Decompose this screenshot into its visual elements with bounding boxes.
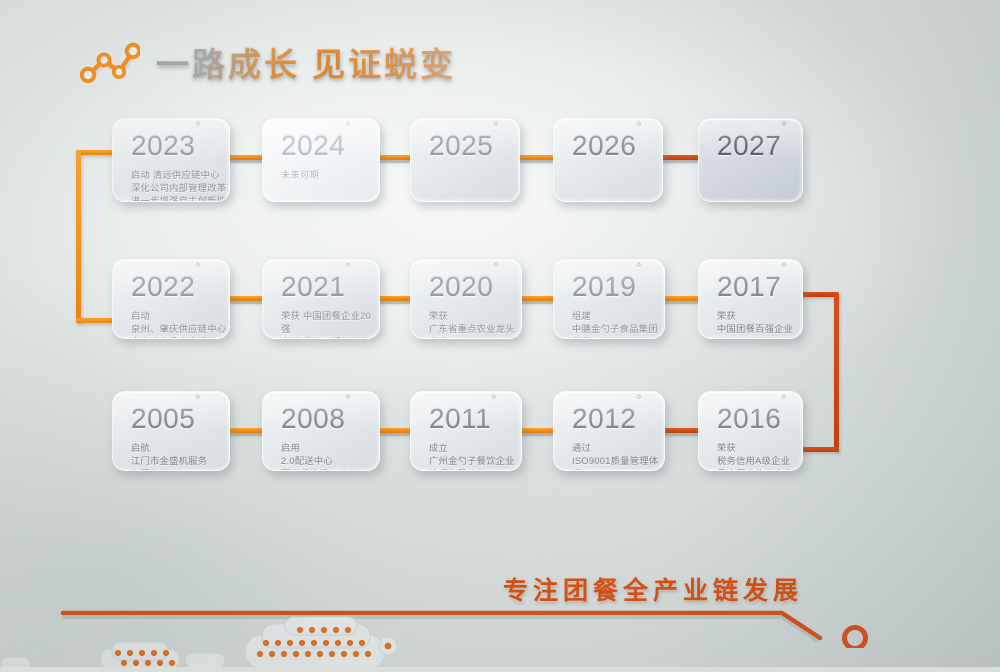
card-line: 金食康食品安全系统 xyxy=(131,336,229,339)
card-line: 江门市金盛机服务 xyxy=(131,455,229,468)
timeline-card-2024[interactable]: 2024° 未来可期 xyxy=(262,118,380,202)
card-line: 荣获 xyxy=(717,310,802,323)
card-lines: 启用 2.0配送中心 配送系统投入使用 xyxy=(281,442,379,471)
card-line: 配送系统投入使用 xyxy=(281,468,379,471)
card-year: 2016° xyxy=(717,405,802,433)
card-line: 2.0配送中心 xyxy=(281,455,379,468)
header: 一路成长 见证蜕变 xyxy=(78,38,456,86)
card-line: 启动 佛山、福州供应链中心 xyxy=(281,336,379,339)
card-lines: 启动 泉州、肇庆供应链中心 金食康食品安全系统 全面上线 xyxy=(131,310,229,339)
card-lines: 启动 清远供应链中心 深化公司内部管理改革 进一步增强自主创新能力 xyxy=(131,169,229,202)
card-line: 广东省重点农业龙头企业 xyxy=(429,323,521,339)
degree-symbol: ° xyxy=(195,260,201,275)
connector-2008-2011 xyxy=(375,428,415,433)
card-line: 启动 xyxy=(131,310,229,323)
card-lines: 荣获 中国团餐企业20强 启动 佛山、福州供应链中心 xyxy=(281,310,379,339)
timeline-card-2020[interactable]: 2020° 荣获 广东省重点农业龙头企业 福州中央厨房 正式投产 xyxy=(410,259,522,339)
degree-symbol: ° xyxy=(781,119,787,134)
card-year: 2011° xyxy=(429,405,521,433)
card-year: 2019° xyxy=(572,273,664,301)
card-lines: 未来可期 xyxy=(281,169,379,182)
card-line: 管理有限公司 xyxy=(429,468,521,471)
card-line: 广州金勺子餐饮企业 xyxy=(429,455,521,468)
degree-symbol: ° xyxy=(345,392,351,407)
timeline-card-2008[interactable]: 2008° 启用 2.0配送中心 配送系统投入使用 xyxy=(262,391,380,471)
card-year: 2027° xyxy=(717,132,802,160)
timeline-card-2011[interactable]: 2011° 成立 广州金勺子餐饮企业 管理有限公司 xyxy=(410,391,522,471)
connector-2024-2025 xyxy=(375,155,415,160)
card-line: ISO9001质量管理体系 xyxy=(572,455,664,471)
card-line: 启动 清远供应链中心 xyxy=(131,169,229,182)
timeline-card-2025[interactable]: 2025° xyxy=(410,118,520,202)
card-year: 2017° xyxy=(717,273,802,301)
degree-symbol: ° xyxy=(781,260,787,275)
card-line: 重合同守信用企业 xyxy=(717,468,802,471)
timeline-card-2016[interactable]: 2016° 荣获 税务信用A级企业 重合同守信用企业 xyxy=(698,391,803,471)
card-year: 2024° xyxy=(281,132,379,160)
card-line: 深化公司内部管理改革 xyxy=(131,182,229,195)
card-line: 成立 xyxy=(429,442,521,455)
card-year: 2022° xyxy=(131,273,229,301)
timeline-card-2022[interactable]: 2022° 启动 泉州、肇庆供应链中心 金食康食品安全系统 全面上线 xyxy=(112,259,230,339)
card-year: 2021° xyxy=(281,273,379,301)
card-lines: 成立 广州金勺子餐饮企业 管理有限公司 xyxy=(429,442,521,471)
page-title: 一路成长 见证蜕变 xyxy=(156,38,456,86)
card-line: 进一步增强自主创新能力 xyxy=(131,195,229,202)
degree-symbol: ° xyxy=(491,392,497,407)
card-year: 2025° xyxy=(429,132,519,160)
card-line: 有限公司 xyxy=(131,468,229,471)
degree-symbol: ° xyxy=(195,119,201,134)
degree-symbol: ° xyxy=(493,260,499,275)
card-year: 2023° xyxy=(131,132,229,160)
connector-2021-2020 xyxy=(375,296,415,301)
card-line: 荣获 xyxy=(429,310,521,323)
timeline-card-2017[interactable]: 2017° 荣获 中国团餐百强企业 xyxy=(698,259,803,339)
card-line: 中膳金勺子食品集团 xyxy=(572,323,664,336)
timeline-card-2012[interactable]: 2012° 通过 ISO9001质量管理体系 ISO22000食安管理体系 xyxy=(553,391,665,471)
card-line: 荣获 中国团餐企业20强 xyxy=(281,310,379,336)
degree-symbol: ° xyxy=(636,119,642,134)
timeline-card-2019[interactable]: 2019° 组建 中膳金勺子食品集团 荣获 广州市重点农业龙头企业 xyxy=(553,259,665,339)
card-line: 荣获 xyxy=(717,442,802,455)
degree-symbol: ° xyxy=(345,260,351,275)
footer-rule-icon xyxy=(60,600,880,653)
card-lines: 通过 ISO9001质量管理体系 ISO22000食安管理体系 xyxy=(572,442,664,471)
degree-symbol: ° xyxy=(493,119,499,134)
card-line: 泉州、肇庆供应链中心 xyxy=(131,323,229,336)
degree-symbol: ° xyxy=(195,392,201,407)
card-year: 2008° xyxy=(281,405,379,433)
degree-symbol: ° xyxy=(636,260,642,275)
timeline-card-2026[interactable]: 2026° xyxy=(553,118,663,202)
timeline-card-2023[interactable]: 2023° 启动 清远供应链中心 深化公司内部管理改革 进一步增强自主创新能力 xyxy=(112,118,230,202)
card-year: 2012° xyxy=(572,405,664,433)
card-line: 未来可期 xyxy=(281,169,379,182)
card-line: 荣获 xyxy=(572,336,664,339)
degree-symbol: ° xyxy=(781,392,787,407)
card-year: 2026° xyxy=(572,132,662,160)
card-line: 启用 xyxy=(281,442,379,455)
card-lines: 荣获 广东省重点农业龙头企业 福州中央厨房 正式投产 xyxy=(429,310,521,339)
card-lines: 启航 江门市金盛机服务 有限公司 xyxy=(131,442,229,471)
card-year: 2005° xyxy=(131,405,229,433)
timeline-card-2021[interactable]: 2021° 荣获 中国团餐企业20强 启动 佛山、福州供应链中心 xyxy=(262,259,380,339)
timeline-card-2027[interactable]: 2027° xyxy=(698,118,803,202)
card-line: 启航 xyxy=(131,442,229,455)
card-line: 通过 xyxy=(572,442,664,455)
card-lines: 荣获 税务信用A级企业 重合同守信用企业 xyxy=(717,442,802,471)
card-lines: 荣获 中国团餐百强企业 xyxy=(717,310,802,336)
line-chart-icon xyxy=(78,40,140,84)
card-year: 2020° xyxy=(429,273,521,301)
card-line: 中国团餐百强企业 xyxy=(717,323,802,336)
card-line: 税务信用A级企业 xyxy=(717,455,802,468)
card-line: 组建 xyxy=(572,310,664,323)
degree-symbol: ° xyxy=(636,392,642,407)
degree-symbol: ° xyxy=(345,119,351,134)
card-lines: 组建 中膳金勺子食品集团 荣获 广州市重点农业龙头企业 xyxy=(572,310,664,339)
timeline-card-2005[interactable]: 2005° 启航 江门市金盛机服务 有限公司 xyxy=(112,391,230,471)
